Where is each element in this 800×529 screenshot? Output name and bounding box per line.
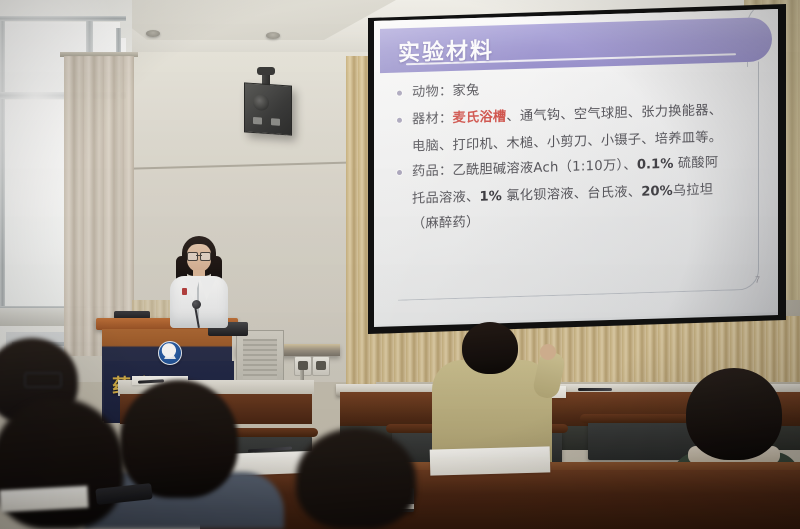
bullet-line-text: 氯化钡溶液、台氏液、: [502, 185, 641, 204]
bullet-line-text: 电脑、打印机、木槌、小剪刀、小镊子、培养皿等。: [412, 130, 722, 155]
glasses-icon: [24, 372, 62, 388]
university-crest-icon: [158, 341, 182, 365]
paper-sheet: [0, 486, 89, 513]
bullet-line-text: 托品溶液、: [412, 190, 479, 207]
paper-sheet: [430, 446, 551, 475]
bullet-line-text: 药品：乙酰胆碱溶液Ach（1:10万）、: [412, 158, 637, 180]
glasses-icon: [187, 252, 211, 259]
bullet-line-text: （麻醉药）: [412, 215, 479, 232]
bullet-highlight-text: 麦氏浴槽: [452, 109, 506, 126]
bullet-line-text: 乌拉坦: [673, 183, 713, 199]
wall-speaker-icon: [244, 82, 292, 135]
audience-member-head: [686, 368, 782, 460]
speaker-tweeter: [271, 118, 280, 126]
slide-page-number: 7: [755, 275, 760, 285]
bullet-line-text: 硫酸阿: [673, 155, 718, 171]
projection-screen: 实验材料 动物：家兔 器材：麦氏浴槽、通气钩、空气球胆、张力换能器、 电脑、打印…: [374, 9, 778, 327]
slide-surface: 实验材料 动物：家兔 器材：麦氏浴槽、通气钩、空气球胆、张力换能器、 电脑、打印…: [374, 9, 778, 327]
presenter: [168, 236, 230, 328]
power-outlet[interactable]: [312, 356, 330, 376]
bullet-line-text: 、通气钩、空气球胆、张力换能器、: [506, 103, 722, 125]
sprinkler-head-icon: [266, 32, 280, 39]
window-mullion: [0, 16, 5, 316]
slide-title: 实验材料: [398, 32, 494, 67]
window-rail: [0, 16, 126, 21]
outlet-socket: [316, 361, 326, 370]
foreground-desk: [200, 470, 800, 529]
bullet-line-text: 动物：家兔: [412, 83, 479, 100]
sprinkler-head-icon: [146, 30, 160, 37]
bullet-number-text: 0.1%: [637, 157, 674, 173]
foreground-person-head: [120, 380, 238, 498]
bullet-line-text: 器材：: [412, 111, 452, 127]
bullet-number-text: 1%: [479, 189, 501, 205]
foreground-person-head: [296, 428, 416, 529]
speaker-tweeter: [253, 117, 262, 125]
audience-member-head: [462, 322, 518, 374]
lecture-hall-scene: 实验材料 动物：家兔 器材：麦氏浴槽、通气钩、空气球胆、张力换能器、 电脑、打印…: [0, 0, 800, 529]
speaker-cone: [253, 94, 269, 111]
slide-bullet-list: 动物：家兔 器材：麦氏浴槽、通气钩、空气球胆、张力换能器、 电脑、打印机、木槌、…: [396, 71, 768, 239]
microphone-icon: [192, 300, 201, 309]
pen[interactable]: [578, 388, 612, 391]
presenter-badge: [182, 288, 187, 295]
audience-member-hand: [540, 344, 556, 360]
slide-bullet-item: 器材：麦氏浴槽、通气钩、空气球胆、张力换能器、: [396, 98, 768, 130]
outlet-socket: [298, 361, 308, 370]
bullet-number-text: 20%: [641, 184, 673, 200]
